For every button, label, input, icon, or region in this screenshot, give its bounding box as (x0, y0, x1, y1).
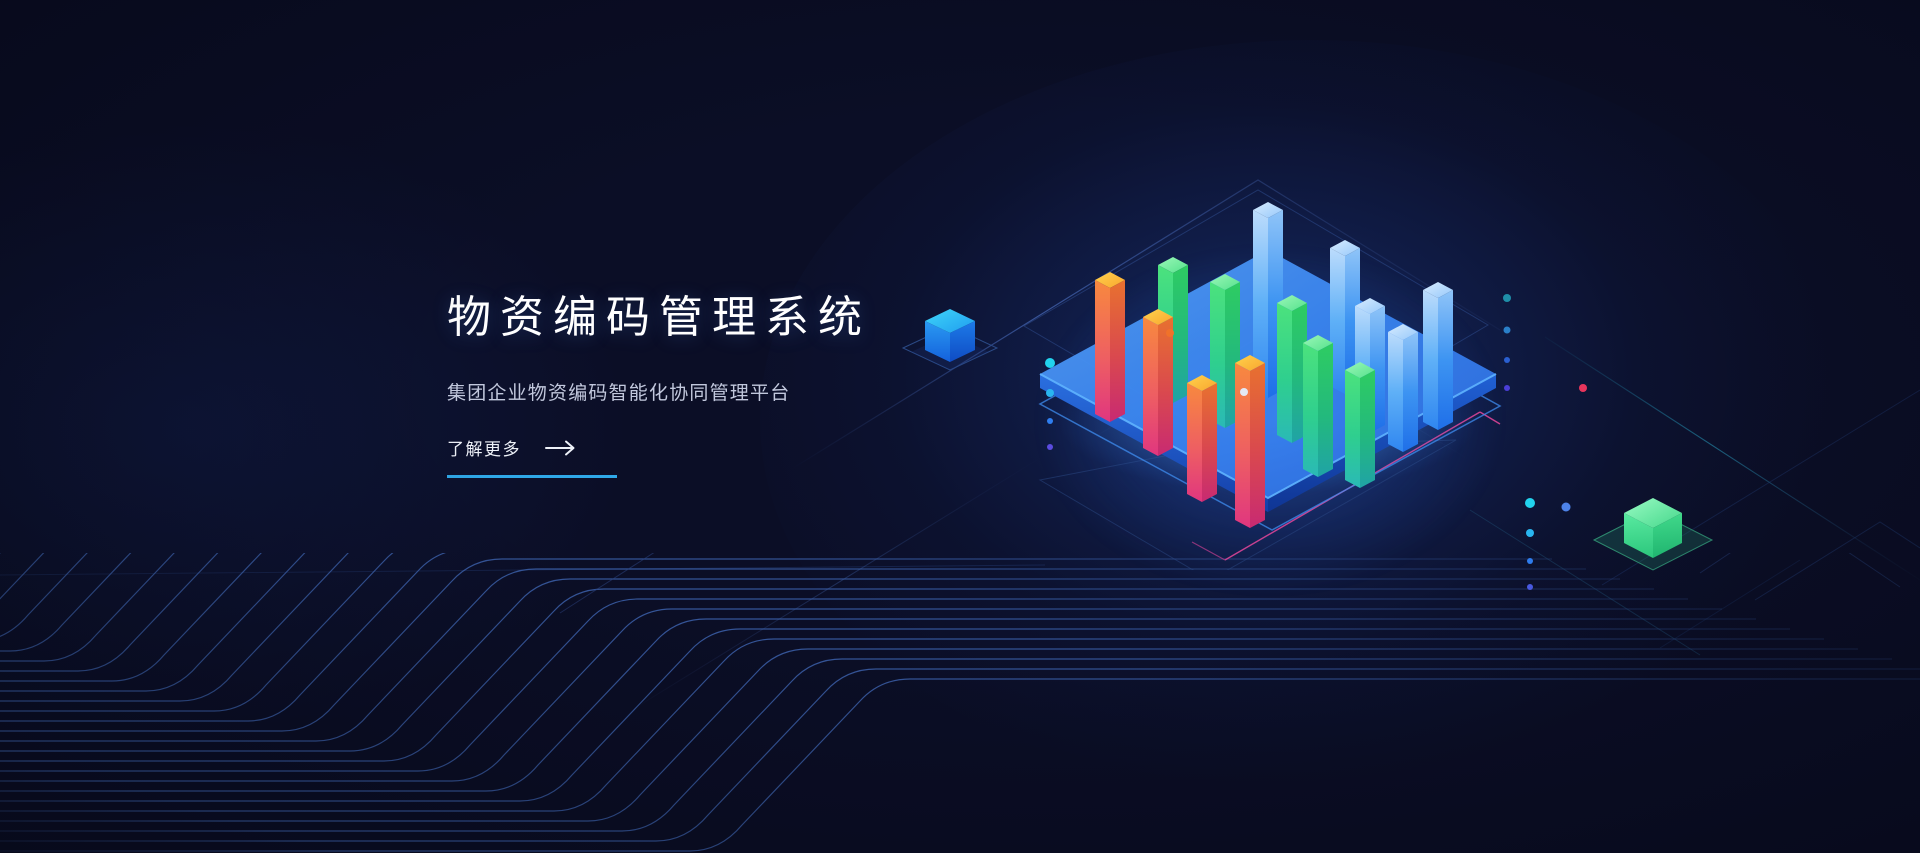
dot-orange (1166, 329, 1174, 337)
accent-dots (1010, 240, 1660, 620)
learn-more-label: 了解更多 (447, 435, 521, 460)
hero-banner: 物资编码管理系统 集团企业物资编码智能化协同管理平台 了解更多 (0, 0, 1920, 853)
dot-white (1240, 388, 1248, 396)
dot-blue-small (1562, 503, 1571, 512)
dot-teal-2 (1504, 327, 1511, 334)
dot-red (1579, 384, 1587, 392)
dot-teal-1 (1503, 294, 1511, 302)
dot-teal-3 (1504, 357, 1510, 363)
learn-more-button[interactable]: 了解更多 (447, 435, 617, 478)
dot-teal-4 (1504, 385, 1510, 391)
arrow-right-icon (545, 440, 577, 456)
blue-cube-icon (895, 290, 1005, 390)
